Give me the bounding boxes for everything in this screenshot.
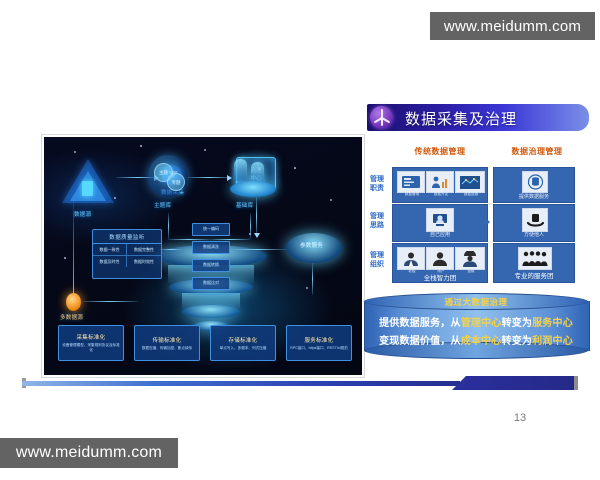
connector-line [186, 177, 232, 178]
slide-title-bar: 数据采集及治理 [367, 104, 589, 131]
team-group-glyph [521, 250, 549, 267]
cylinder-line2-b: 成本中心 [461, 336, 502, 347]
cylinder-line1-a: 提供数据服务，从 [379, 318, 461, 329]
process-step-box: 数据转换 [192, 259, 230, 272]
modern-row1-caption: 提供数据服务 [494, 193, 574, 200]
row-label-approach: 管理思路 [365, 213, 389, 230]
row-label-responsibility: 管理职责 [365, 176, 389, 193]
document-icon [82, 181, 93, 196]
businessman-glyph [401, 251, 421, 267]
quality-box-title: 数据质量监听 [93, 230, 161, 244]
traditional-row3-cell: 老板 用户 运维 全栈智力团 [392, 243, 488, 283]
database-badge-glyph [526, 174, 545, 190]
worker-helmet-glyph [459, 251, 481, 267]
user-icon [426, 247, 454, 270]
standard-box: 服务标准化 RPC接口、https接口、RESTful规范 [286, 325, 352, 361]
quality-cell: 数据及时性 [93, 256, 127, 267]
column-header-traditional: 传统数据管理 [392, 146, 488, 157]
slide-canvas: 数据源 数据采集 治理 中心 主题 专题 主题库 [0, 0, 600, 480]
data-development-icon [426, 171, 454, 193]
star-decoration [330, 199, 332, 201]
summary-cylinder: 通过大数据治理 提供数据服务，从管理中心转变为服务中心 变现数据价值，从成本中心… [364, 293, 588, 359]
connector-line [82, 301, 138, 302]
ribbon-wedge [452, 376, 578, 390]
process-step-box: 数据清洗 [192, 241, 230, 254]
pillar-shape [234, 159, 247, 181]
modern-row2-cell: 方便他人 [493, 204, 575, 242]
watermark-bottom: www.meidumm.com [0, 438, 178, 468]
cylinder-line1-b: 管理中心 [461, 318, 502, 329]
star-decoration [204, 149, 206, 151]
pinwheel-stem [381, 118, 383, 126]
highlight-node-label: 多数据源 [60, 313, 83, 321]
self-application-icon [426, 208, 454, 232]
data-quality-monitor-box: 数据质量监听 数据一致性 数据完整性 数据及时性 数据时效性 [92, 229, 162, 279]
standard-box-title: 传输标准化 [152, 336, 181, 344]
standard-box-title: 采集标准化 [76, 333, 105, 341]
modern-row2-caption: 方便他人 [494, 231, 574, 238]
provide-data-service-icon [522, 171, 548, 193]
star-decoration [114, 197, 116, 199]
base-library-label: 基础库 [236, 201, 253, 209]
cylinder-line-2: 变现数据价值，从成本中心转变为利润中心 [364, 332, 588, 347]
person-computer-glyph [430, 212, 450, 229]
standard-box-title: 存储标准化 [228, 336, 257, 344]
user-glyph [430, 251, 450, 267]
ribbon-right-cap [574, 376, 578, 390]
modern-row3-cell: 专业的服务团 [493, 243, 575, 283]
standard-box-desc: 单点写入、多副本、列式压缩 [220, 346, 267, 351]
standard-box-desc: 设备管理模型、采集规则协议及标准化 [62, 343, 120, 352]
ribbon-thin-bar [22, 381, 460, 386]
data-source-label: 数据源 [74, 210, 91, 218]
cylinder-title: 通过大数据治理 [364, 296, 588, 308]
connector-line [168, 213, 169, 239]
standard-box: 传输标准化 数据压缩、传输加密、断点续传 [134, 325, 200, 361]
map-glyph [459, 175, 481, 190]
cylinder-line1-d: 服务中心 [532, 318, 573, 329]
traditional-row3-caption: 全栈智力团 [393, 272, 487, 282]
standard-box-desc: RPC接口、https接口、RESTful规范 [290, 346, 348, 351]
connector-line [210, 239, 250, 240]
connector-line [168, 239, 210, 240]
right-arrow-icon [468, 212, 490, 232]
star-decoration [74, 151, 76, 153]
connector-line [256, 195, 257, 237]
funnel-disc-low [182, 305, 240, 318]
standard-box: 采集标准化 设备管理模型、采集规则协议及标准化 [58, 325, 124, 361]
connector-line [160, 249, 182, 250]
cylinder-line-1: 提供数据服务，从管理中心转变为服务中心 [364, 314, 588, 329]
professional-team-icon [518, 247, 552, 270]
star-decoration [306, 287, 308, 289]
standard-box: 存储标准化 单点写入、多副本、列式压缩 [210, 325, 276, 361]
highlight-node [66, 293, 81, 311]
boss-icon [397, 247, 425, 270]
disc-shape [230, 181, 276, 197]
cloud-label: 参数服务 [300, 241, 323, 249]
operations-worker-icon [455, 247, 485, 270]
quality-cell: 数据完整性 [127, 244, 161, 256]
connector-line [312, 263, 313, 295]
data-source-node [62, 159, 114, 207]
quality-cell: 数据一致性 [93, 244, 127, 256]
theme-library-label: 主题库 [154, 201, 171, 209]
convenience-icon [522, 208, 548, 232]
connector-line [230, 249, 286, 250]
monitor-glyph [401, 175, 421, 190]
page-number: 13 [500, 412, 540, 424]
cylinder-line2-a: 变现数据价值，从 [379, 336, 461, 347]
connector-line [250, 213, 251, 239]
hand-holding-glyph [526, 212, 545, 229]
theme-library-node: 主题 专题 [148, 155, 188, 197]
cylinder-line1-c: 转变为 [502, 318, 533, 329]
star-decoration [140, 145, 142, 147]
quality-cell: 数据时效性 [127, 256, 161, 267]
data-governance-diagram: 数据源 数据采集 治理 中心 主题 专题 主题库 [42, 135, 364, 377]
cylinder-line2-c: 转变为 [502, 336, 533, 347]
theme-library-shape: 主题 专题 [148, 155, 188, 197]
theme-inner-2: 专题 [167, 173, 185, 191]
traditional-row1-cell: 数据管理 数据开发 数据运维 [392, 167, 488, 203]
connector-line [73, 197, 74, 293]
page-title: 数据采集及治理 [405, 108, 517, 129]
cylinder-line2-d: 利润中心 [532, 336, 573, 347]
traditional-row2-caption: 自己应用 [393, 231, 487, 238]
person-chart-glyph [430, 175, 450, 190]
column-header-governance: 数据治理管理 [489, 146, 585, 157]
modern-row1-cell: 提供数据服务 [493, 167, 575, 203]
bottom-decorative-ribbon [22, 376, 578, 390]
process-step-box: 统一编码 [192, 223, 230, 236]
watermark-top: www.meidumm.com [430, 12, 595, 40]
quality-cell-grid: 数据一致性 数据完整性 数据及时性 数据时效性 [93, 244, 161, 267]
data-management-icon [397, 171, 425, 193]
standard-box-title: 服务标准化 [304, 336, 333, 344]
arrow-icon [254, 233, 260, 238]
arrow-head [479, 212, 490, 232]
star-decoration [294, 167, 296, 169]
star-decoration [64, 257, 66, 259]
row-label-organization: 管理组织 [365, 252, 389, 269]
process-step-box: 数据比对 [192, 277, 230, 290]
pinwheel-icon [370, 106, 393, 129]
data-operations-icon [455, 171, 485, 193]
standard-box-desc: 数据压缩、传输加密、断点续传 [142, 346, 192, 351]
modern-row3-caption: 专业的服务团 [494, 270, 574, 280]
